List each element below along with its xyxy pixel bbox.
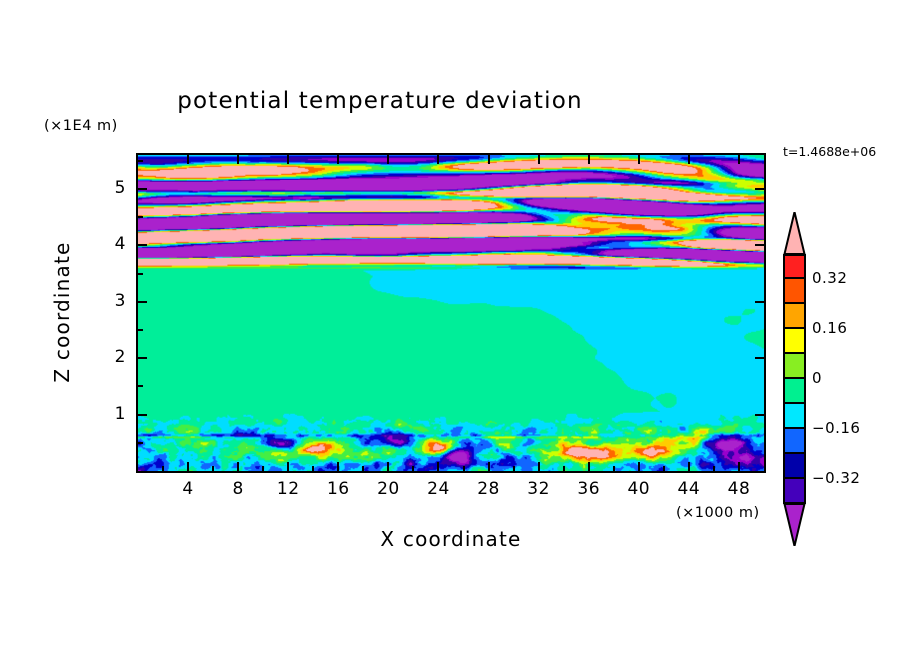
colorbar-tick-label: 0.32: [812, 269, 847, 287]
colorbar-tick-label: −0.16: [812, 419, 860, 437]
y-tick-mark: [755, 188, 764, 190]
x-tick-mark: [387, 462, 389, 471]
y-axis-title: Z coordinate: [50, 212, 74, 412]
x-tick-mark: [588, 462, 590, 471]
x-minor-tick: [563, 466, 565, 471]
colorbar-band[interactable]: [783, 329, 806, 354]
y-minor-tick: [138, 385, 143, 387]
y-tick-mark: [755, 244, 764, 246]
y-minor-tick: [138, 160, 143, 162]
x-tick-mark: [638, 155, 640, 164]
colorbar-band[interactable]: [783, 479, 806, 504]
y-tick-mark: [138, 301, 147, 303]
y-minor-tick: [138, 216, 143, 218]
x-minor-tick: [162, 466, 164, 471]
page-title: potential temperature deviation: [0, 88, 760, 114]
y-tick-mark: [138, 414, 147, 416]
x-tick-mark: [588, 155, 590, 164]
x-tick-mark: [387, 155, 389, 164]
x-axis-title: X coordinate: [136, 527, 766, 551]
x-minor-tick: [463, 466, 465, 471]
y-tick-mark: [138, 357, 147, 359]
x-tick-mark: [287, 462, 289, 471]
y-tick-label: 1: [86, 404, 126, 424]
x-tick-mark: [738, 462, 740, 471]
x-minor-tick: [613, 466, 615, 471]
colorbar-band[interactable]: [783, 454, 806, 479]
x-minor-tick: [262, 466, 264, 471]
x-tick-mark: [538, 462, 540, 471]
y-tick-label: 4: [86, 234, 126, 254]
x-tick-mark: [437, 462, 439, 471]
x-minor-tick: [713, 466, 715, 471]
x-tick-mark: [187, 155, 189, 164]
colorbar[interactable]: [783, 212, 806, 546]
x-minor-tick: [212, 466, 214, 471]
contour-plot-area[interactable]: [136, 153, 766, 473]
colorbar-cap-high: [783, 212, 806, 254]
x-minor-tick: [513, 466, 515, 471]
x-tick-mark: [488, 462, 490, 471]
x-tick-mark: [337, 462, 339, 471]
x-minor-tick: [663, 466, 665, 471]
x-axis-unit-label: (×1000 m): [676, 505, 760, 521]
x-tick-mark: [538, 155, 540, 164]
x-tick-mark: [688, 462, 690, 471]
y-tick-label: 5: [86, 178, 126, 198]
x-tick-mark: [237, 462, 239, 471]
x-tick-label: 48: [709, 479, 769, 499]
x-minor-tick: [412, 466, 414, 471]
x-tick-mark: [638, 462, 640, 471]
y-tick-mark: [755, 301, 764, 303]
colorbar-band[interactable]: [783, 254, 806, 279]
y-tick-label: 3: [86, 291, 126, 311]
colorbar-band[interactable]: [783, 404, 806, 429]
x-tick-mark: [488, 155, 490, 164]
colorbar-band[interactable]: [783, 304, 806, 329]
colorbar-band[interactable]: [783, 279, 806, 304]
x-tick-mark: [287, 155, 289, 164]
x-tick-mark: [437, 155, 439, 164]
y-minor-tick: [138, 442, 143, 444]
z-axis-unit-label: (×1E4 m): [44, 118, 118, 134]
colorbar-tick-label: 0: [812, 369, 822, 387]
contour-field-canvas: [138, 155, 764, 471]
x-tick-mark: [738, 155, 740, 164]
y-tick-mark: [138, 244, 147, 246]
y-tick-label: 2: [86, 347, 126, 367]
y-tick-mark: [138, 188, 147, 190]
y-minor-tick: [138, 329, 143, 331]
colorbar-cap-low: [783, 504, 806, 546]
y-tick-mark: [755, 357, 764, 359]
colorbar-tick-label: −0.32: [812, 469, 860, 487]
x-tick-mark: [688, 155, 690, 164]
y-minor-tick: [138, 273, 143, 275]
colorbar-tick-label: 0.16: [812, 319, 847, 337]
colorbar-band[interactable]: [783, 354, 806, 379]
colorbar-band[interactable]: [783, 429, 806, 454]
y-tick-mark: [755, 414, 764, 416]
x-tick-mark: [187, 462, 189, 471]
x-tick-mark: [237, 155, 239, 164]
x-minor-tick: [312, 466, 314, 471]
x-tick-mark: [337, 155, 339, 164]
x-minor-tick: [362, 466, 364, 471]
colorbar-band[interactable]: [783, 379, 806, 404]
timestamp-annotation: t=1.4688e+06: [783, 144, 876, 159]
